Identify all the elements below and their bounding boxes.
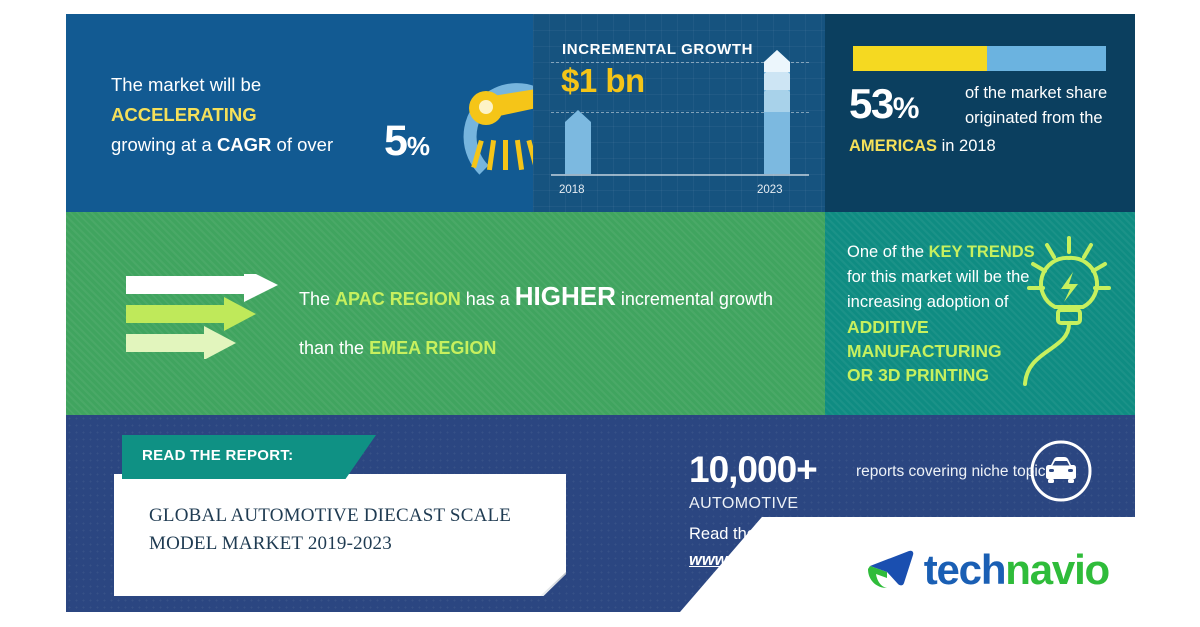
market-share-bar-remainder [987,46,1106,71]
market-share-region-line: AMERICAS in 2018 [849,134,1129,158]
arrow-pale [126,326,236,359]
cagr-panel: The market will be ACCELERATING growing … [66,14,533,212]
lightbulb-idea-icon [1007,232,1127,407]
bar-2018 [565,110,591,174]
market-share-number: 53 [849,80,893,127]
report-title: GLOBAL AUTOMOTIVE DIECAST SCALE MODEL MA… [149,502,544,558]
axis-label-2023: 2023 [757,184,783,196]
region-arrows-group [126,274,286,359]
market-share-bar [853,46,1106,71]
region-comparison-panel: The APAC REGION has a HIGHER incremental… [66,212,825,415]
cagr-accelerating-highlight: ACCELERATING [111,104,257,125]
market-share-caption-l1: of the market share [965,84,1107,102]
sector-label: AUTOMOTIVE [689,495,799,513]
region-statement-line2: than the EMEA REGION [299,338,809,359]
cagr-value: 5% [384,117,429,166]
logo-text-tech: tech [924,546,1006,593]
technavio-wordmark: technavio [924,546,1109,594]
region-apac-highlight: APAC REGION [335,289,461,309]
read-the-report-banner: READ THE REPORT: [122,435,376,479]
read-here-label: Read them here: [689,525,812,544]
middle-row: The APAC REGION has a HIGHER incremental… [66,212,1135,415]
top-row: The market will be ACCELERATING growing … [66,14,1135,212]
technavio-website-link[interactable]: www.technavio.com [689,551,847,570]
market-share-panel: 53% of the market share originated from … [825,14,1135,212]
market-share-region: AMERICAS [849,137,937,155]
region-l1-post: incremental growth [616,289,773,309]
axis-label-2018: 2018 [559,184,585,196]
region-statement-line1: The APAC REGION has a HIGHER incremental… [299,284,809,311]
cagr-line1-pre: The market will be [111,74,261,95]
report-card[interactable]: GLOBAL AUTOMOTIVE DIECAST SCALE MODEL MA… [114,474,566,596]
cagr-statement: The market will be ACCELERATING growing … [111,70,411,160]
cagr-value-unit: % [407,131,429,161]
chart-axis-line [551,174,809,176]
infographic-canvas: The market will be ACCELERATING growing … [66,14,1135,612]
footer-row: READ THE REPORT: GLOBAL AUTOMOTIVE DIECA… [66,415,1135,612]
cagr-line2-pre: growing at a [111,134,217,155]
report-count-caption: reports covering niche topics [856,463,1053,481]
arrow-white [126,274,278,302]
market-share-value: 53% [849,80,918,128]
bar-2023 [764,50,790,174]
region-l1-mid: has a [461,289,515,309]
key-trends-panel: One of the KEY TRENDS for this market wi… [825,212,1135,415]
report-count-number: 10,000+ [689,449,817,491]
region-emea-highlight: EMEA REGION [369,338,496,358]
region-l2-pre: than the [299,338,369,358]
market-share-year: in 2018 [937,137,996,155]
incremental-growth-title: INCREMENTAL GROWTH [562,41,753,58]
read-the-report-label: READ THE REPORT: [142,447,293,464]
region-l1-pre: The [299,289,335,309]
trend-l2: for this market will be the [847,268,1029,286]
car-front-icon [1029,439,1093,503]
market-share-caption-l2: originated from the [965,109,1103,127]
logo-text-navio: navio [1005,546,1109,593]
technavio-logo[interactable]: technavio [866,546,1109,594]
cagr-line2-post: of over [271,134,333,155]
incremental-growth-value: $1 bn [561,62,645,100]
cagr-abbrev: CAGR [217,134,271,155]
technavio-arrow-logo-icon [866,547,916,593]
region-higher-emphasis: HIGHER [515,281,616,311]
market-share-unit: % [893,92,918,125]
market-share-caption: of the market share originated from the [965,81,1135,131]
page-fold-corner [540,572,566,596]
incremental-growth-panel: INCREMENTAL GROWTH $1 bn 2018 2023 [533,14,825,212]
trend-l1-pre: One of the [847,243,929,261]
market-share-bar-filled [853,46,987,71]
cagr-value-number: 5 [384,117,407,165]
arrow-lime [126,297,256,331]
trend-l3: increasing adoption of [847,293,1008,311]
